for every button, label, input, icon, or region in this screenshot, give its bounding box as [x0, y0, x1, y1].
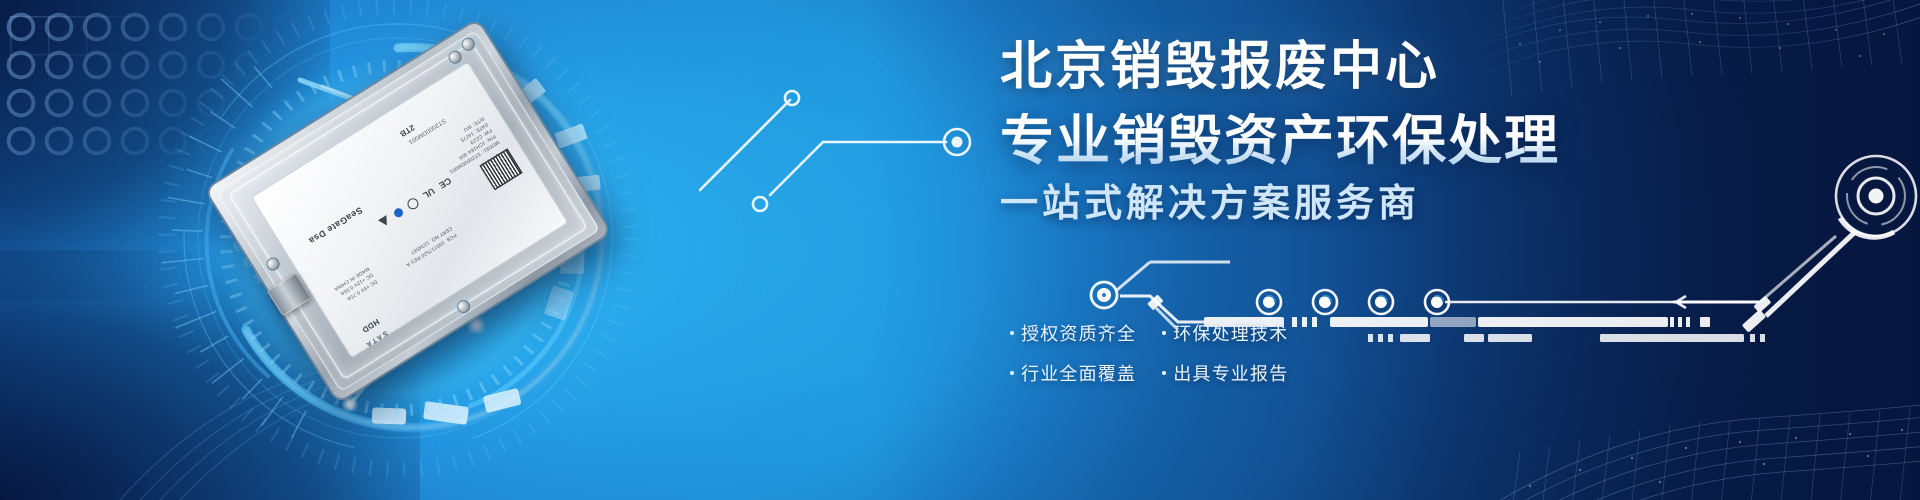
feature-list: 授权资质齐全 环保处理技术 行业全面覆盖 出具专业报告 — [1010, 320, 1288, 386]
headline-block: 北京销毁报废中心 专业销毁资产环保处理 一站式解决方案服务商 — [1000, 40, 1560, 226]
bullet-dot-icon — [1162, 371, 1166, 375]
blue-dot-icon — [393, 206, 405, 218]
feature-item: 出具专业报告 — [1162, 360, 1288, 386]
feature-item: 授权资质齐全 — [1010, 320, 1136, 346]
feature-item: 环保处理技术 — [1162, 320, 1288, 346]
ce-mark-icon: CE — [437, 176, 453, 191]
feature-label: 环保处理技术 — [1173, 320, 1288, 346]
promo-banner: 0010 1001 100 0 110 1011 0011 110 0110 1… — [0, 0, 1920, 500]
hdd-spec-block-c: PCB 100717520 REV A CERT NO. 1234567 — [400, 224, 457, 268]
feature-item: 行业全面覆盖 — [1010, 360, 1136, 386]
bullet-dot-icon — [1010, 371, 1014, 375]
hdd-spec-block-b: DC +5V 0.75A DC +12V 0.55A MADE IN CHINA — [332, 264, 378, 304]
hdd-certification-row: CE UL — [378, 176, 454, 229]
feature-label: 授权资质齐全 — [1021, 320, 1136, 346]
hdd-barcode-icon — [481, 150, 520, 188]
headline-line-3: 一站式解决方案服务商 — [1000, 184, 1560, 226]
headline-line-1: 北京销毁报废中心 — [1000, 40, 1560, 95]
power-icon — [406, 196, 421, 211]
feature-label: 行业全面覆盖 — [1021, 360, 1136, 386]
headline-line-2: 专业销毁资产环保处理 — [1000, 113, 1560, 170]
bullet-dot-icon — [1010, 331, 1014, 335]
hdd-type-text: HDD — [360, 317, 381, 335]
warning-icon — [378, 215, 391, 228]
hdd-brand-text: SeaGate Dsa — [307, 205, 365, 246]
ul-mark-icon: UL — [421, 186, 436, 201]
bullet-dot-icon — [1162, 331, 1166, 335]
feature-label: 出具专业报告 — [1173, 360, 1288, 386]
